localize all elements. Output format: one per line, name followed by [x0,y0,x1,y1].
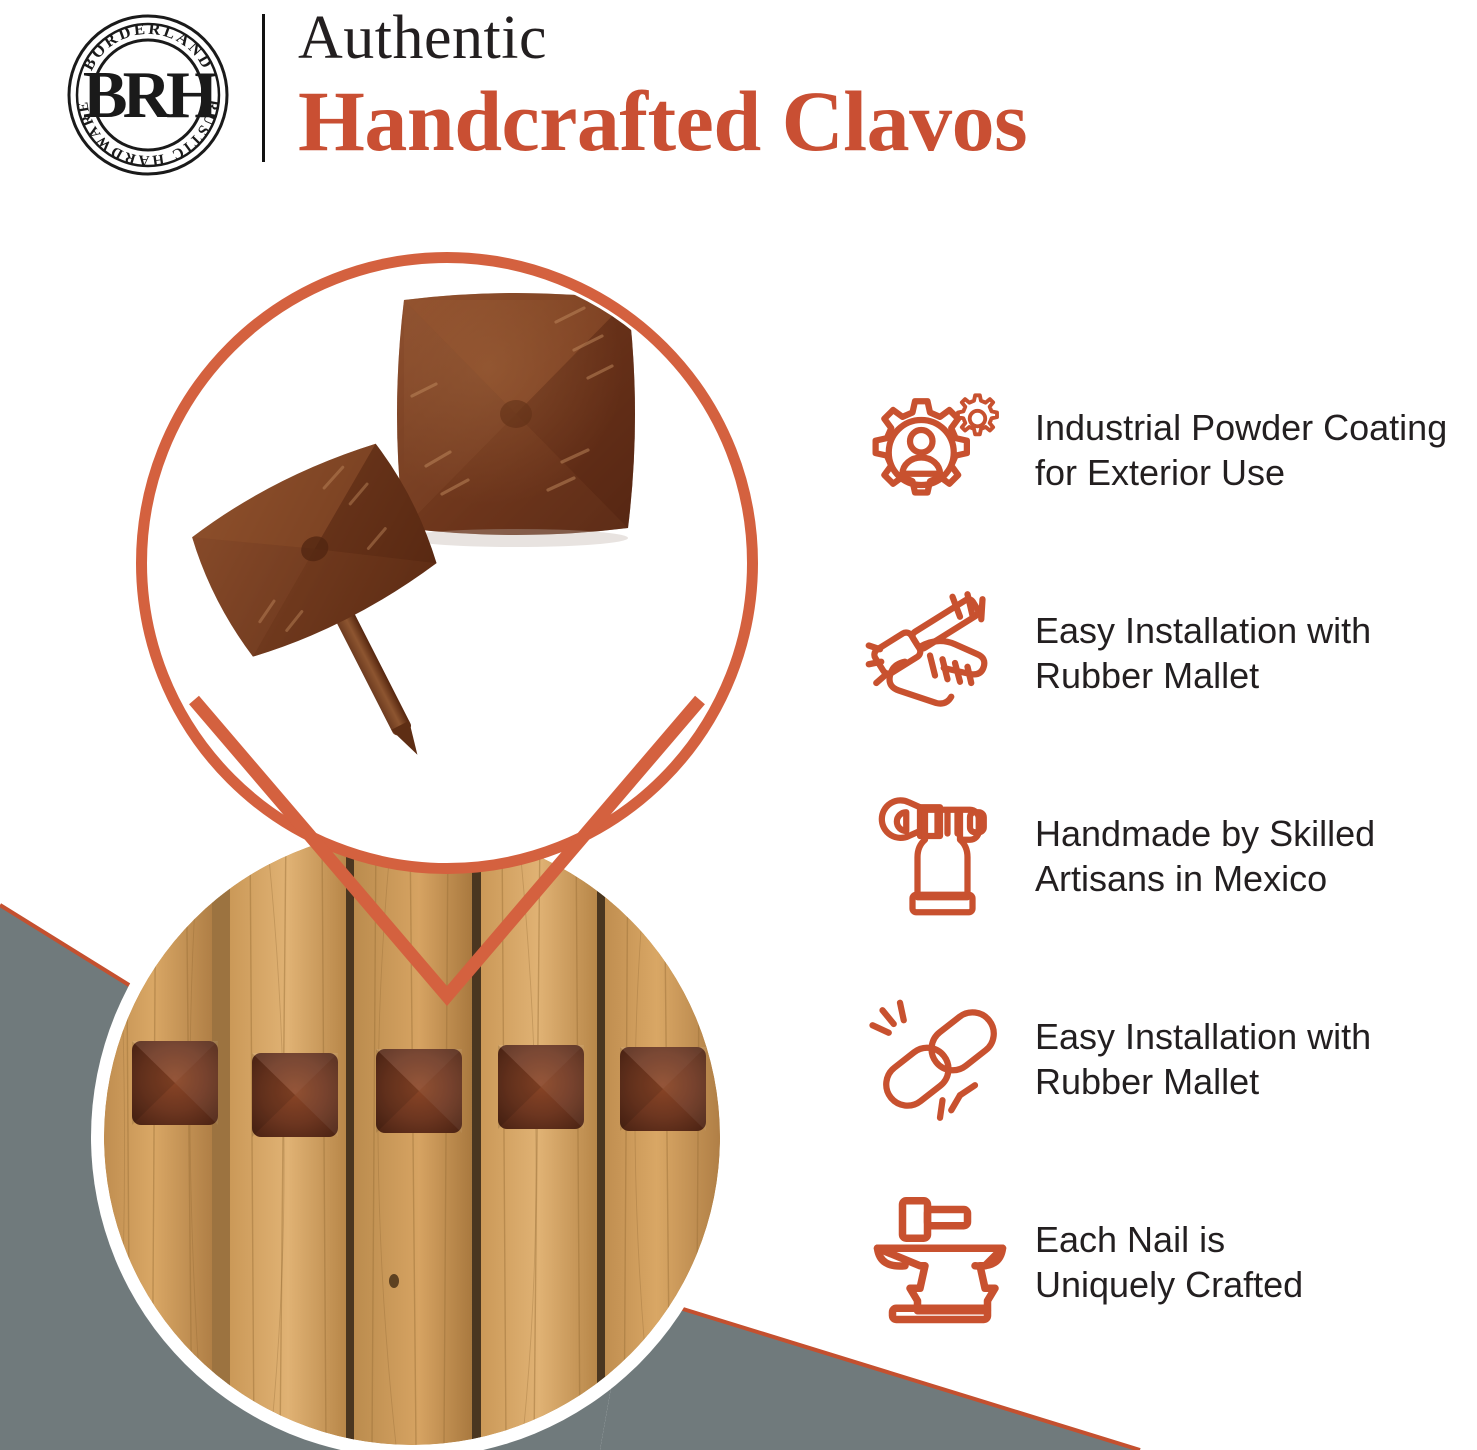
feature-label: Industrial Powder Coating for Exterior U… [1025,405,1477,495]
feature-item: Easy Installation with Rubber Mallet [855,981,1477,1137]
gears-with-person-icon [855,375,1025,525]
clavos-nails-product-photo [150,266,744,860]
infographic-page: BORDERLAND RUSTIC HARDWARE BRH Authentic… [0,0,1477,1450]
hand-holding-mallet-icon [855,578,1025,728]
feature-label: Easy Installation with Rubber Mallet [1025,1014,1477,1104]
title-block: Authentic Handcrafted Clavos [298,2,1418,168]
brand-logo: BORDERLAND RUSTIC HARDWARE BRH [55,14,241,176]
chain-links-icon [855,984,1025,1134]
feature-item: Industrial Powder Coating for Exterior U… [855,372,1477,528]
page-eyebrow: Authentic [298,2,1418,74]
header: BORDERLAND RUSTIC HARDWARE BRH Authentic… [0,0,1477,190]
anvil-with-hammer-icon [855,1187,1025,1337]
feature-list: Industrial Powder Coating for Exterior U… [855,372,1477,1340]
feature-label: Each Nail is Uniquely Crafted [1025,1217,1477,1307]
clavos-nails-image [150,266,744,860]
door-image [104,829,720,1445]
fist-holding-wrench-icon [855,781,1025,931]
feature-item: Handmade by Skilled Artisans in Mexico [855,778,1477,934]
clavo-front-view [397,293,635,547]
product-imagery [0,190,800,1450]
circular-seal-logo-icon: BORDERLAND RUSTIC HARDWARE BRH [55,14,241,176]
feature-item: Each Nail is Uniquely Crafted [855,1184,1477,1340]
wooden-door-with-clavos-photo [92,817,732,1450]
logo-monogram-text: BRH [83,58,217,132]
feature-item: Easy Installation with Rubber Mallet [855,575,1477,731]
header-divider [262,14,265,162]
feature-label: Handmade by Skilled Artisans in Mexico [1025,811,1477,901]
page-title: Handcrafted Clavos [298,74,1418,168]
feature-label: Easy Installation with Rubber Mallet [1025,608,1477,698]
